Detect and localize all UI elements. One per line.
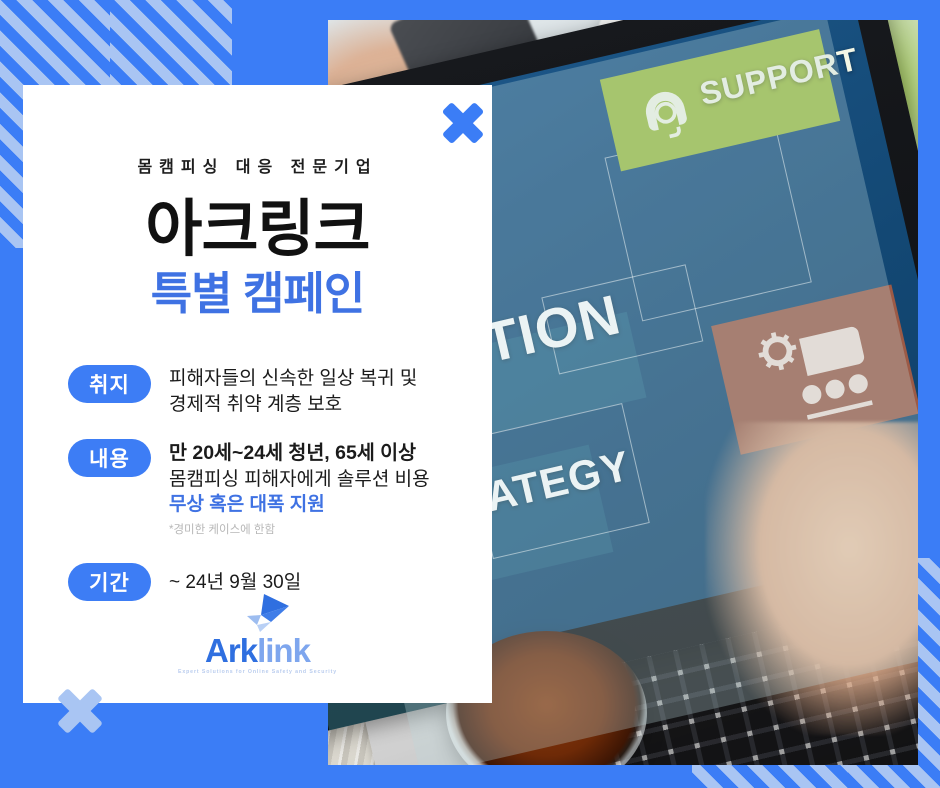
logo-word-primary: Ark xyxy=(205,632,257,669)
logo-word-secondary: link xyxy=(257,632,310,669)
row-line: 경제적 취약 계층 보호 xyxy=(169,392,468,418)
brand-logo: Arklink Expert Solutions for Online Safe… xyxy=(23,592,492,675)
page-title: 아크링크 xyxy=(23,195,492,264)
row-note: *경미한 케이스에 한함 xyxy=(169,521,468,537)
eyebrow-text: 몸캠피싱 대응 전문기업 xyxy=(23,153,492,177)
row-label-badge: 내용 xyxy=(68,439,151,477)
logo-tagline: Expert Solutions for Online Safety and S… xyxy=(178,669,337,675)
row-content: 피해자들의 신속한 일상 복귀 및 경제적 취약 계층 보호 xyxy=(169,365,468,417)
campaign-subtitle: 특별 캠페인 xyxy=(23,268,492,320)
headset-icon xyxy=(625,76,704,150)
row-label-badge: 취지 xyxy=(68,365,151,403)
detail-row: 취지 피해자들의 신속한 일상 복귀 및 경제적 취약 계층 보호 xyxy=(68,365,468,417)
detail-row: 내용 만 20세~24세 청년, 65세 이상 몸캠피싱 피해자에게 솔루션 비… xyxy=(68,439,468,537)
poster-root: SUPPORT SOLUT xyxy=(0,0,940,788)
logo-wordmark: Arklink xyxy=(205,634,310,667)
row-line: 만 20세~24세 청년, 65세 이상 xyxy=(169,440,468,466)
overlay-label-support: SUPPORT xyxy=(696,41,862,113)
content-card: 몸캠피싱 대응 전문기업 아크링크 특별 캠페인 취지 피해자들의 신속한 일상… xyxy=(23,85,492,703)
row-line-highlight: 무상 혹은 대폭 지원 xyxy=(169,492,468,518)
row-line: 몸캠피싱 피해자에게 솔루션 비용 xyxy=(169,467,468,493)
x-decoration-top xyxy=(440,100,486,146)
row-line: 피해자들의 신속한 일상 복귀 및 xyxy=(169,366,468,392)
settings-gear-icon xyxy=(747,309,884,428)
row-content: 만 20세~24세 청년, 65세 이상 몸캠피싱 피해자에게 솔루션 비용 무… xyxy=(169,439,468,537)
row-content: ~ 24년 9월 30일 xyxy=(169,563,468,596)
photo-hand-typing xyxy=(706,422,918,735)
x-decoration-bottom xyxy=(55,686,105,736)
detail-rows: 취지 피해자들의 신속한 일상 복귀 및 경제적 취약 계층 보호 내용 만 2… xyxy=(68,365,468,623)
